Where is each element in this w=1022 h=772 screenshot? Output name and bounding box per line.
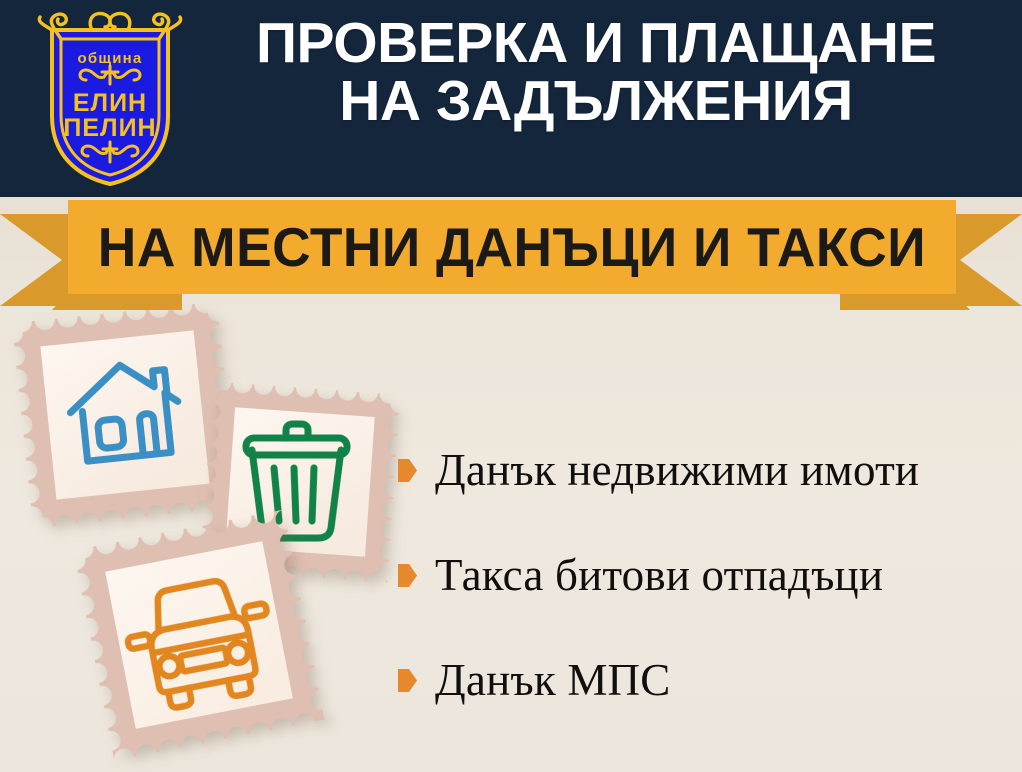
ribbon-fold-right bbox=[840, 293, 970, 310]
crest-line-main-1: ЕЛИН bbox=[73, 89, 147, 117]
service-list: Данък недвижими имоти Такса битови отпад… bbox=[398, 418, 1022, 733]
crest-line-top: община bbox=[78, 50, 143, 67]
list-item[interactable]: Данък недвижими имоти bbox=[398, 418, 1022, 523]
arrow-bullet-icon bbox=[398, 564, 417, 587]
car-stamp bbox=[74, 510, 325, 761]
arrow-bullet-icon bbox=[398, 459, 417, 482]
page-title: ПРОВЕРКА И ПЛАЩАНЕ НА ЗАДЪЛЖЕНИЯ bbox=[186, 14, 1006, 130]
arrow-bullet-icon bbox=[398, 669, 417, 692]
list-item-label: Данък МПС bbox=[435, 658, 670, 703]
crest-line-main-2: ПЕЛИН bbox=[63, 114, 156, 142]
list-item[interactable]: Такса битови отпадъци bbox=[398, 523, 1022, 628]
ribbon-panel: НА МЕСТНИ ДАНЪЦИ И ТАКСИ bbox=[68, 200, 956, 294]
stamp-paper bbox=[40, 330, 209, 499]
coat-of-arms: община ЕЛИН ПЕЛИН bbox=[34, 8, 186, 188]
poster-canvas: ПРОВЕРКА И ПЛАЩАНЕ НА ЗАДЪЛЖЕНИЯ община bbox=[0, 0, 1022, 772]
ribbon-label: НА МЕСТНИ ДАНЪЦИ И ТАКСИ bbox=[98, 215, 926, 279]
list-item-label: Такса битови отпадъци bbox=[435, 553, 883, 598]
ribbon-banner: НА МЕСТНИ ДАНЪЦИ И ТАКСИ bbox=[0, 196, 1022, 311]
list-item-label: Данък недвижими имоти bbox=[435, 448, 919, 493]
list-item[interactable]: Данък МПС bbox=[398, 628, 1022, 733]
ribbon-fold-left bbox=[52, 293, 182, 310]
